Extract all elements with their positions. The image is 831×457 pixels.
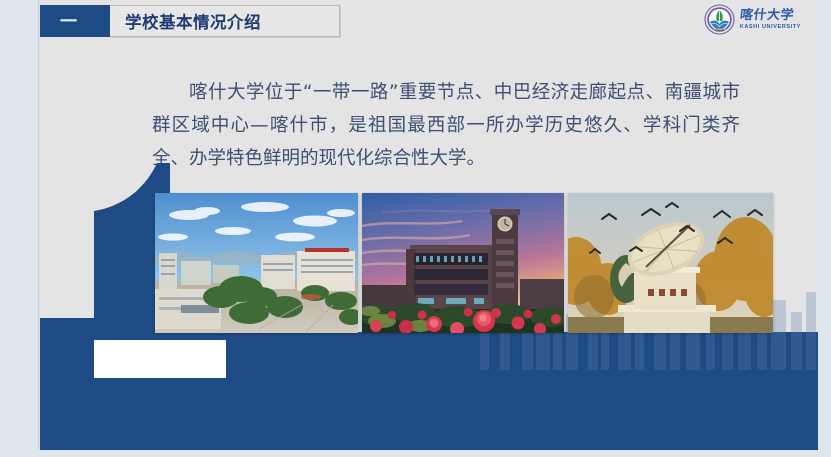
photo-sundial-sculpture-with-birds[interactable]	[568, 193, 773, 333]
photo-campus-aerial-view[interactable]	[155, 193, 358, 333]
university-logo-text: 喀什大学 KASHI UNIVERSITY	[740, 9, 801, 31]
workspace-left-margin	[0, 0, 40, 457]
university-name-cn: 喀什大学	[739, 9, 802, 22]
section-number-label: 一	[60, 13, 77, 30]
slide-title-bar: 一 学校基本情况介绍	[40, 5, 340, 37]
intro-paragraph: 喀什大学位于“一带一路”重要节点、中巴经济走廊起点、南疆城市群区域中心—喀什市，…	[152, 76, 740, 175]
slide-title-box[interactable]: 学校基本情况介绍	[110, 5, 340, 37]
presentation-slide-viewer: 一 学校基本情况介绍 喀什大学	[0, 0, 831, 457]
photo-clock-tower-at-dusk-with-roses[interactable]	[362, 193, 564, 333]
kashi-university-emblem-icon	[704, 4, 735, 35]
section-number-chip[interactable]: 一	[40, 5, 110, 37]
university-logo: 喀什大学 KASHI UNIVERSITY	[704, 4, 801, 35]
workspace-right-margin	[818, 0, 831, 457]
page-title: 学校基本情况介绍	[125, 9, 261, 33]
slide-canvas: 一 学校基本情况介绍 喀什大学	[40, 0, 818, 450]
university-name-en: KASHI UNIVERSITY	[740, 25, 801, 31]
